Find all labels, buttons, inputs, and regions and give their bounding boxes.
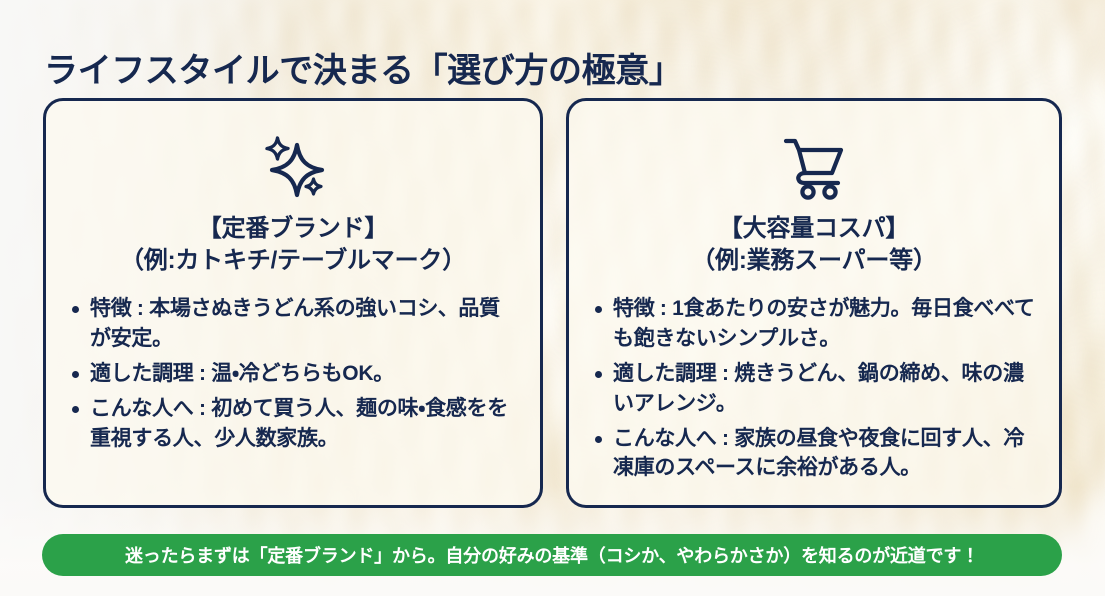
card-bulk-value: 【大容量コスパ】 （例:業務スーパー等） 特徴 : 1食あたりの安さが魅力。毎日…	[566, 98, 1062, 508]
list-item: 特徴 : 1食あたりの安さが魅力。毎日食べべても飽きないシンプルさ。	[589, 294, 1039, 354]
card-bullet-list: 特徴 : 1食あたりの安さが魅力。毎日食べべても飽きないシンプルさ。 適した調理…	[589, 294, 1039, 483]
card-standard-brand: 【定番ブランド】 （例:カトキチ/テーブルマーク） 特徴 : 本場さぬきうどん系…	[43, 98, 543, 508]
shopping-cart-icon	[589, 123, 1039, 209]
list-item: 特徴 : 本場さぬきうどん系の強いコシ、品質が安定。	[66, 294, 520, 354]
card-heading: 【定番ブランド】 （例:カトキチ/テーブルマーク）	[66, 213, 520, 276]
list-item: こんな人へ : 家族の昼食や夜食に回す人、冷凍庫のスペースに余裕がある人。	[589, 424, 1039, 484]
page-title: ライフスタイルで決まる「選び方の極意」	[44, 43, 682, 92]
summary-banner: 迷ったらまずは「定番ブランド」から。自分の好みの基準（コシか、やわらかさか）を知…	[42, 534, 1062, 576]
sparkle-icon	[66, 123, 520, 209]
card-heading-line2: （例:カトキチ/テーブルマーク）	[66, 245, 520, 277]
card-heading-line1: 【定番ブランド】	[198, 215, 388, 242]
card-heading-line2: （例:業務スーパー等）	[589, 245, 1039, 277]
card-bullet-list: 特徴 : 本場さぬきうどん系の強いコシ、品質が安定。 適した調理 : 温・冷どち…	[66, 294, 520, 453]
list-item: 適した調理 : 温・冷どちらもOK。	[66, 359, 520, 389]
list-item: こんな人へ : 初めて買う人、麺の味・食感をを重視する人、少人数家族。	[66, 394, 520, 454]
card-heading-line1: 【大容量コスパ】	[719, 215, 909, 242]
infographic-slide: ライフスタイルで決まる「選び方の極意」 【定番ブランド】 （例:カトキチ/テーブ…	[0, 0, 1105, 596]
card-heading: 【大容量コスパ】 （例:業務スーパー等）	[589, 213, 1039, 276]
list-item: 適した調理 : 焼きうどん、鍋の締め、味の濃いアレンジ。	[589, 359, 1039, 419]
